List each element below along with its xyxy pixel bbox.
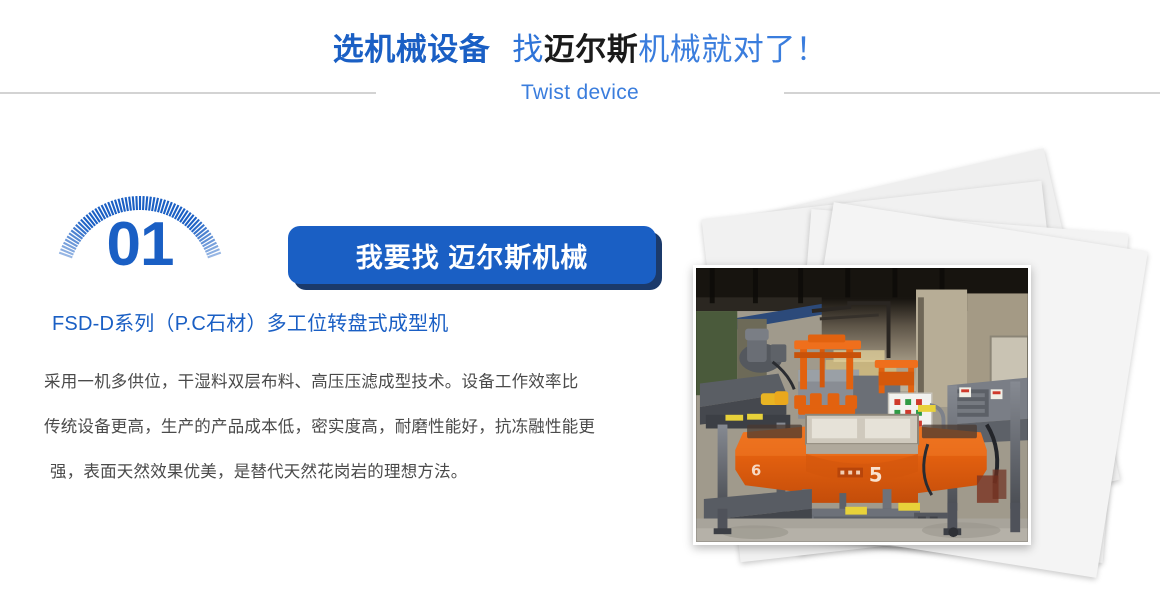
divider-right xyxy=(784,92,1160,94)
page-title-part4: 机械就对了！ xyxy=(638,32,827,67)
find-machinery-button[interactable]: 我要找 迈尔斯机械 xyxy=(288,226,656,284)
page-title: 选机械设备找迈尔斯机械就对了！ xyxy=(0,30,1160,70)
page-header: 选机械设备找迈尔斯机械就对了！ Twist device xyxy=(0,0,1160,125)
svg-text:5: 5 xyxy=(869,463,883,486)
product-description: 采用一机多供位，干湿料双层布料、高压压滤成型技术。设备工作效率比 传统设备更高，… xyxy=(44,360,669,495)
svg-text:6: 6 xyxy=(751,462,761,479)
content-left-column: 01 我要找 迈尔斯机械 FSD-D系列（P.C石材）多工位转盘式成型机 采用一… xyxy=(0,125,690,591)
product-photo-zone: 6 5 xyxy=(680,175,1160,575)
description-line: 传统设备更高，生产的产品成本低，密实度高，耐磨性能好，抗冻融性能更 xyxy=(44,405,669,450)
product-title: FSD-D系列（P.C石材）多工位转盘式成型机 xyxy=(52,310,448,338)
description-line: 强，表面天然效果优美，是替代天然花岗岩的理想方法。 xyxy=(44,450,669,495)
product-photo-frame[interactable]: 6 5 xyxy=(693,265,1031,545)
cta-button-wrapper: 我要找 迈尔斯机械 xyxy=(288,226,668,294)
divider-left xyxy=(0,92,376,94)
page-title-part2: 找 xyxy=(512,32,544,67)
page-title-brand: 迈尔斯 xyxy=(544,32,639,67)
section-number: 01 xyxy=(47,214,233,276)
section-number-badge: 01 xyxy=(47,170,233,302)
page-title-part1: 选机械设备 xyxy=(333,32,491,67)
description-line: 采用一机多供位，干湿料双层布料、高压压滤成型技术。设备工作效率比 xyxy=(44,360,669,405)
rotary-press-machine-photo: 6 5 xyxy=(696,268,1028,542)
